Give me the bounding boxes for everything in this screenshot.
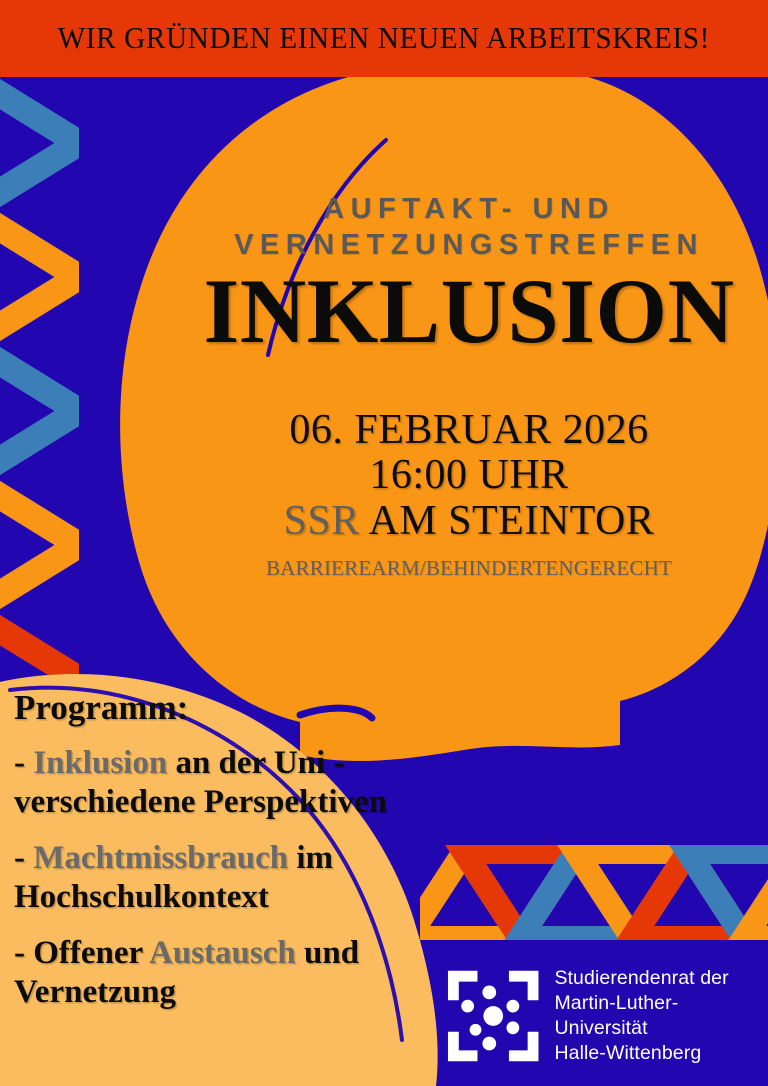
banner-text: WIR GRÜNDEN EINEN NEUEN ARBEITSKREIS! bbox=[58, 21, 710, 56]
ssr-bracket-dots-icon bbox=[446, 968, 540, 1064]
program-item-dash: - Offener bbox=[14, 935, 149, 971]
kicker-line-1: AUFTAKT- UND bbox=[170, 192, 768, 228]
event-time: 16:00 UHR bbox=[170, 453, 768, 498]
program-item-accent: Inklusion bbox=[33, 745, 167, 781]
event-venue: SSR AM STEINTOR bbox=[170, 499, 768, 544]
program-item-dash: - bbox=[14, 745, 33, 781]
program-item-accent: Austausch bbox=[149, 935, 296, 971]
venue-rest: AM STEINTOR bbox=[360, 498, 655, 544]
headline-block: AUFTAKT- UND VERNETZUNGSTREFFEN INKLUSIO… bbox=[170, 192, 768, 354]
program-item: - Inklusion an der Uni - verschiedene Pe… bbox=[14, 744, 394, 822]
program-item: - Offener Austausch und Vernetzung bbox=[14, 934, 394, 1012]
organisation-logo: Studierendenrat der Martin-Luther-Univer… bbox=[446, 966, 768, 1066]
event-details: 06. FEBRUAR 2026 16:00 UHR SSR AM STEINT… bbox=[170, 408, 768, 581]
program-block: Programm: - Inklusion an der Uni - versc… bbox=[14, 688, 394, 1029]
event-date: 06. FEBRUAR 2026 bbox=[170, 408, 768, 453]
program-item-accent: Machtmissbrauch bbox=[33, 840, 288, 876]
top-banner: WIR GRÜNDEN EINEN NEUEN ARBEITSKREIS! bbox=[0, 0, 768, 77]
venue-accent: SSR bbox=[284, 498, 360, 544]
program-item-dash: - bbox=[14, 840, 33, 876]
accessibility-note: BARRIEREARM/BEHINDERTENGERECHT bbox=[170, 556, 768, 581]
program-item: - Machtmissbrauch im Hochschulkontext bbox=[14, 839, 394, 917]
logo-text: Studierendenrat der Martin-Luther-Univer… bbox=[554, 966, 768, 1066]
poster-canvas: WIR GRÜNDEN EINEN NEUEN ARBEITSKREIS! AU… bbox=[0, 0, 768, 1086]
page-title: INKLUSION bbox=[170, 269, 768, 354]
logo-line-2: Martin-Luther-Universität bbox=[554, 991, 768, 1041]
program-heading: Programm: bbox=[14, 688, 394, 728]
logo-line-1: Studierendenrat der bbox=[554, 966, 768, 991]
logo-line-3: Halle-Wittenberg bbox=[554, 1041, 768, 1066]
kicker-line-2: VERNETZUNGSTREFFEN bbox=[170, 228, 768, 264]
